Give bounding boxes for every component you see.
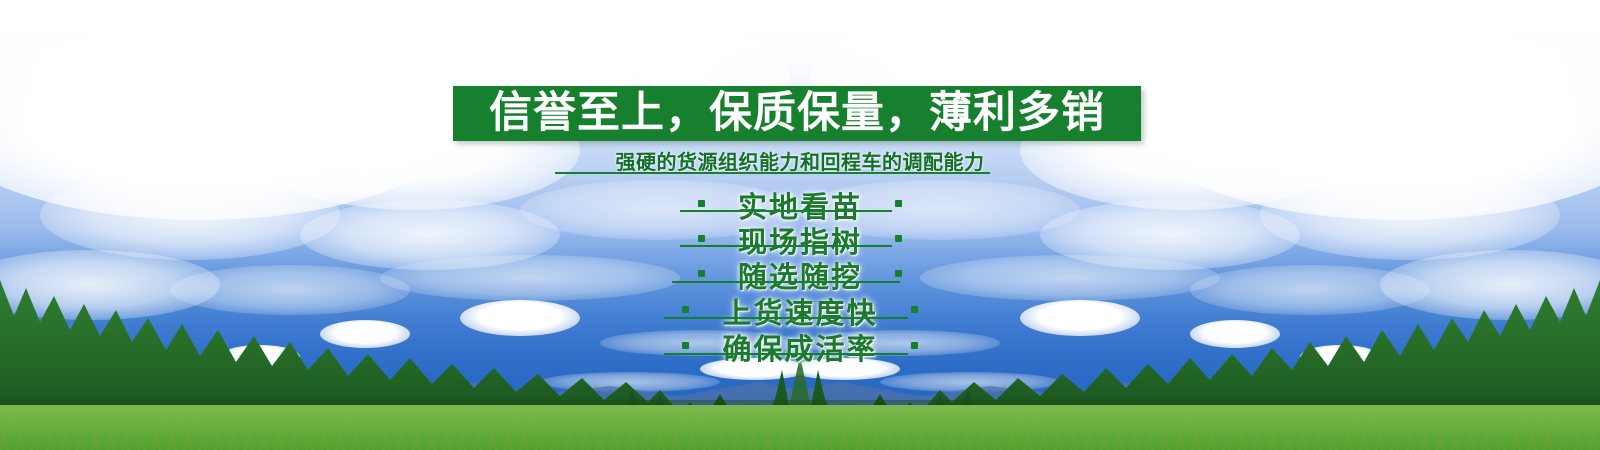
bullet-dot-right-icon xyxy=(911,306,918,313)
feature-underline-5 xyxy=(664,353,908,355)
bullet-dot-right-icon xyxy=(895,270,902,277)
banner-content: 信誉至上，保质保量，薄利多销 强硬的货源组织能力和回程车的调配能力 实地看苗 现… xyxy=(0,0,1600,450)
feature-item-5: 确保成活率 xyxy=(0,326,1600,368)
feature-underline-4 xyxy=(664,317,908,319)
bullet-dot-left-icon xyxy=(698,200,705,207)
subtitle-underline xyxy=(555,172,990,174)
bullet-dot-right-icon xyxy=(895,200,902,207)
feature-underline-2 xyxy=(680,245,892,247)
bullet-dot-left-icon xyxy=(698,270,705,277)
subtitle-text: 强硬的货源组织能力和回程车的调配能力 xyxy=(0,146,1600,175)
bullet-dot-right-icon xyxy=(895,235,902,242)
headline-banner-bar: 信誉至上，保质保量，薄利多销 xyxy=(453,86,1141,141)
bullet-dot-left-icon xyxy=(682,306,689,313)
bullet-dot-left-icon xyxy=(698,235,705,242)
feature-underline-3 xyxy=(672,281,900,283)
bullet-dot-left-icon xyxy=(682,342,689,349)
hero-banner: 信誉至上，保质保量，薄利多销 强硬的货源组织能力和回程车的调配能力 实地看苗 现… xyxy=(0,0,1600,450)
bullet-dot-right-icon xyxy=(911,342,918,349)
feature-underline-1 xyxy=(680,210,892,212)
feature-label-5: 确保成活率 xyxy=(722,326,877,368)
headline-text: 信誉至上，保质保量，薄利多销 xyxy=(453,86,1141,141)
